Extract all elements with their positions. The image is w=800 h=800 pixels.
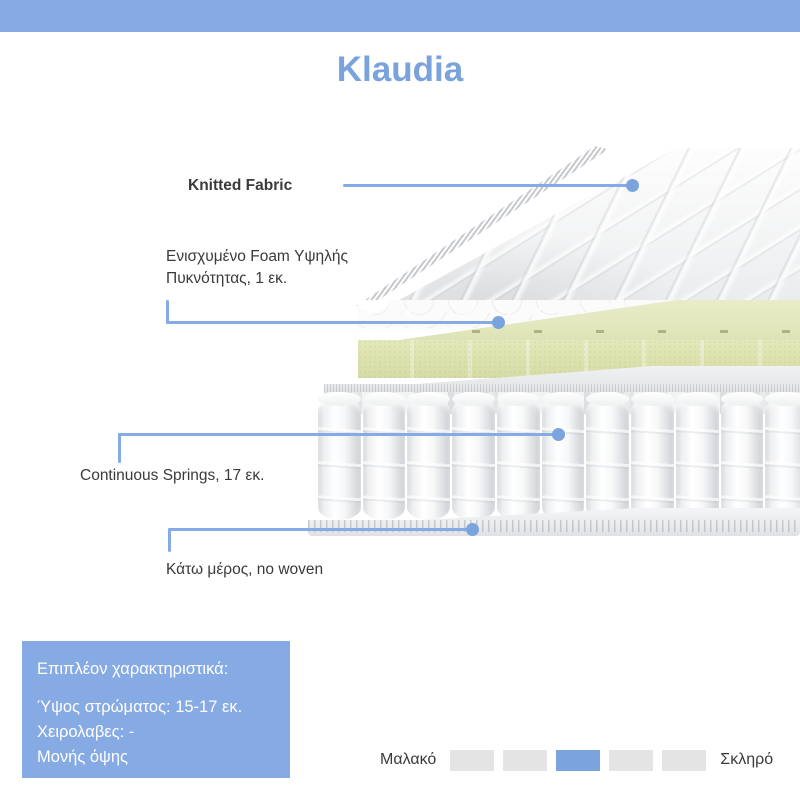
pocket-spring xyxy=(452,398,495,520)
pocket-spring xyxy=(542,398,585,520)
callout-label-non-woven-base: Κάτω μέρος, no woven xyxy=(166,559,323,581)
page-title: Klaudia xyxy=(0,50,800,90)
leader-line-non-woven-base xyxy=(168,528,476,531)
callout-label-high-density-foam: Ενισχυμένο Foam Υψηλής Πυκνότητας, 1 εκ. xyxy=(166,246,348,290)
callout-label-continuous-springs: Continuous Springs, 17 εκ. xyxy=(80,465,264,487)
pocket-spring xyxy=(497,398,540,520)
mattress-cutaway-illustration xyxy=(300,140,800,550)
pocket-spring xyxy=(676,398,719,520)
pocket-spring xyxy=(407,398,450,520)
top-accent-band xyxy=(0,0,800,32)
firmness-step-3[interactable] xyxy=(556,750,600,771)
leader-dot-non-woven-base xyxy=(466,523,479,536)
pocket-spring xyxy=(586,398,629,520)
firmness-soft-label: Μαλακό xyxy=(380,751,436,769)
pocket-spring xyxy=(318,398,361,520)
firmness-step-1[interactable] xyxy=(450,750,494,771)
springs-layer xyxy=(318,398,800,520)
leader-dot-continuous-springs xyxy=(552,428,565,441)
firmness-steps xyxy=(450,750,706,771)
firmness-step-4[interactable] xyxy=(609,750,653,771)
firmness-step-2[interactable] xyxy=(503,750,547,771)
leader-line-high-density-foam xyxy=(166,321,499,324)
firmness-step-5[interactable] xyxy=(662,750,706,771)
firmness-hard-label: Σκληρό xyxy=(720,751,773,769)
leader-dot-high-density-foam xyxy=(492,316,505,329)
leader-dot-knitted-fabric xyxy=(626,179,639,192)
callout-label-knitted-fabric: Knitted Fabric xyxy=(188,175,292,197)
extra-features-list: Ύψος στρώματος: 15-17 εκ. Χειρολαβες: - … xyxy=(37,695,242,770)
firmness-scale: Μαλακό Σκληρό xyxy=(380,746,780,774)
leader-line-continuous-springs xyxy=(118,433,560,436)
extra-features-heading: Επιπλέον χαρακτηριστικά: xyxy=(37,660,228,679)
extra-features-panel: Επιπλέον χαρακτηριστικά: Ύψος στρώματος:… xyxy=(22,641,290,778)
leader-line-knitted-fabric xyxy=(343,184,633,187)
pocket-spring xyxy=(363,398,406,520)
leader-elbow-non-woven-base xyxy=(168,528,171,552)
pocket-spring xyxy=(765,398,800,520)
pocket-spring xyxy=(721,398,764,520)
leader-elbow-continuous-springs xyxy=(118,433,121,463)
pocket-spring xyxy=(631,398,674,520)
